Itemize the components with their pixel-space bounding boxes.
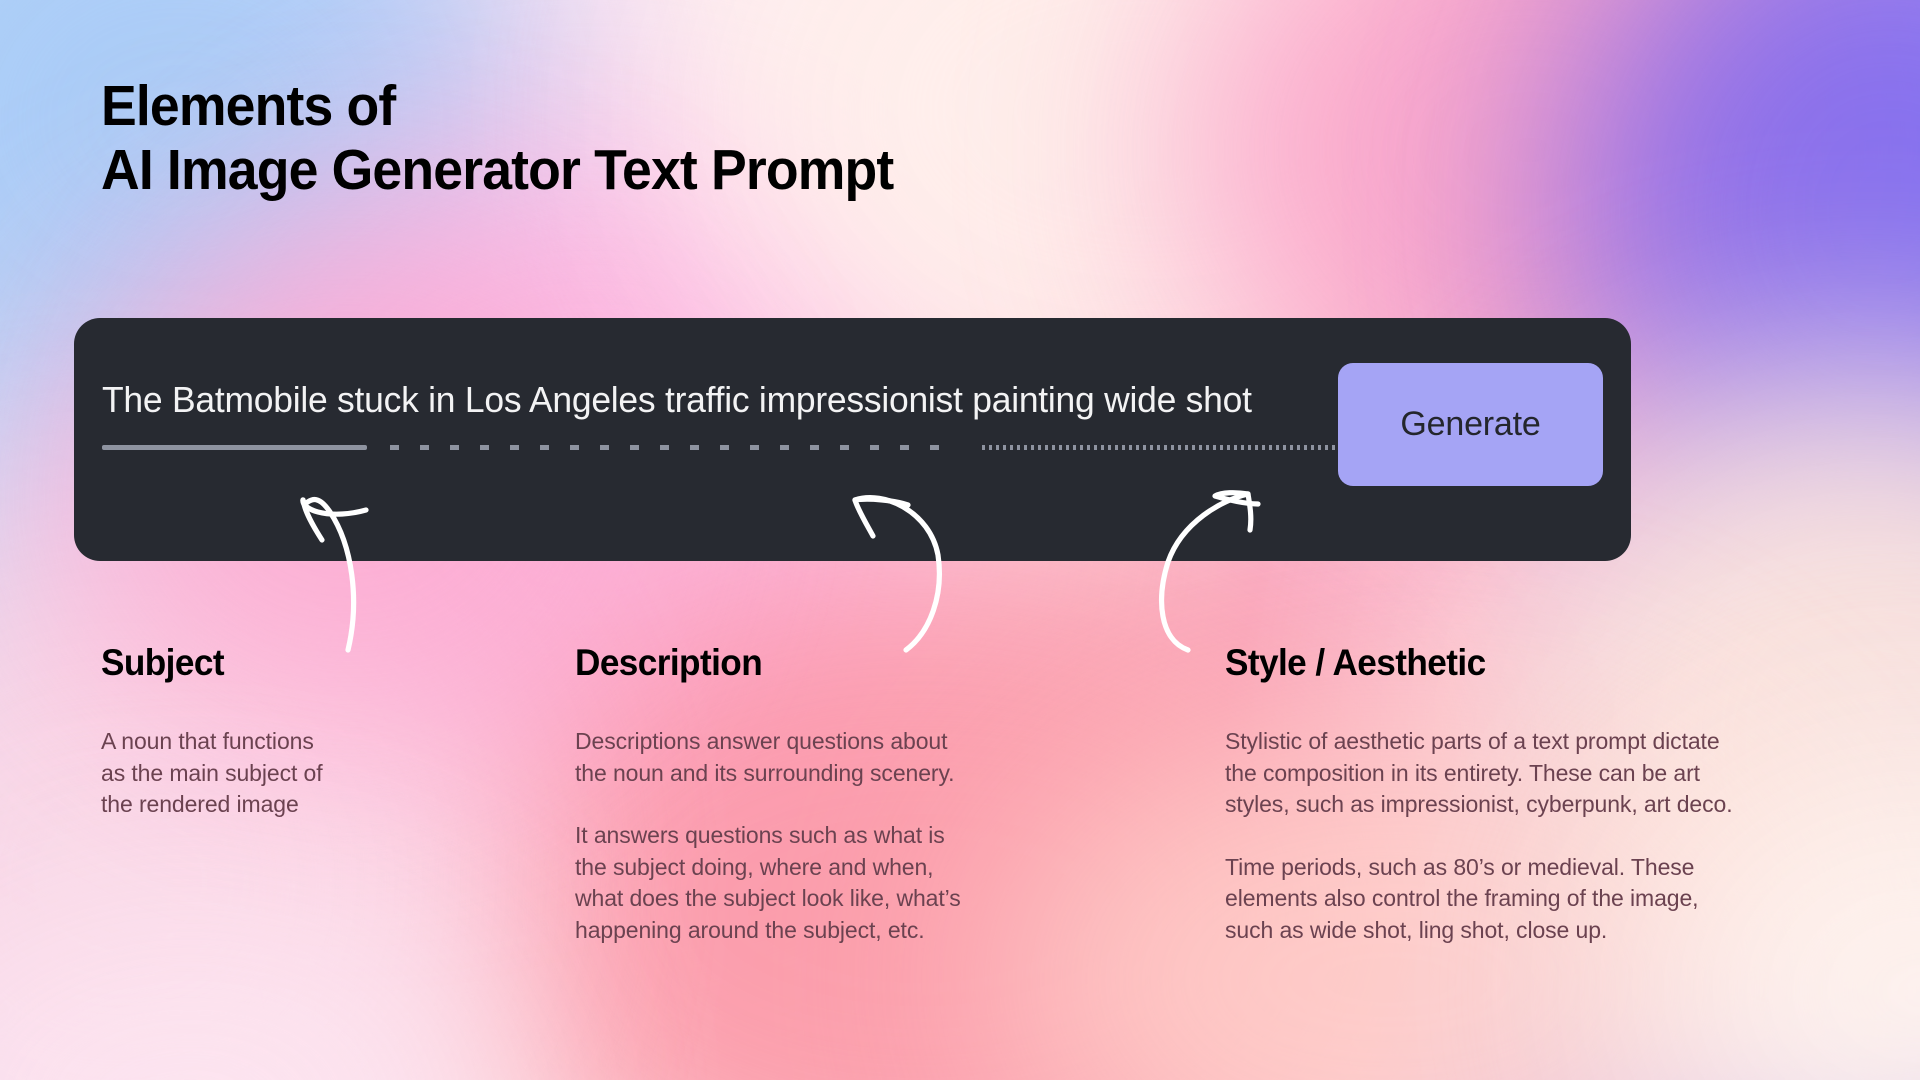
column-description-heading: Description <box>575 640 1050 686</box>
column-description-paragraph-2: It answers questions such as what is the… <box>575 820 1075 946</box>
columns-section: Subject A noun that functions as the mai… <box>0 640 1920 1040</box>
underline-solid-subject <box>102 445 367 450</box>
column-description-paragraph-1: Descriptions answer questions about the … <box>575 726 1075 789</box>
prompt-bar: The Batmobile stuck in Los Angeles traff… <box>74 318 1631 561</box>
underline-dashed-description <box>390 445 943 450</box>
generate-button[interactable]: Generate <box>1338 363 1603 486</box>
prompt-text-value: The Batmobile stuck in Los Angeles traff… <box>102 378 1496 422</box>
column-style-paragraph-1: Stylistic of aesthetic parts of a text p… <box>1225 726 1865 821</box>
column-subject: Subject A noun that functions as the mai… <box>101 640 501 821</box>
page-root: Elements of AI Image Generator Text Prom… <box>0 0 1920 1080</box>
column-subject-heading: Subject <box>101 640 481 686</box>
column-description: Description Descriptions answer question… <box>575 640 1075 946</box>
column-style-paragraph-2: Time periods, such as 80’s or medieval. … <box>1225 852 1865 947</box>
column-style-heading: Style / Aesthetic <box>1225 640 1833 686</box>
page-title: Elements of AI Image Generator Text Prom… <box>101 74 1135 202</box>
column-subject-paragraph-1: A noun that functions as the main subjec… <box>101 726 501 821</box>
prompt-input[interactable]: The Batmobile stuck in Los Angeles traff… <box>102 378 1517 498</box>
column-style: Style / Aesthetic Stylistic of aesthetic… <box>1225 640 1865 946</box>
